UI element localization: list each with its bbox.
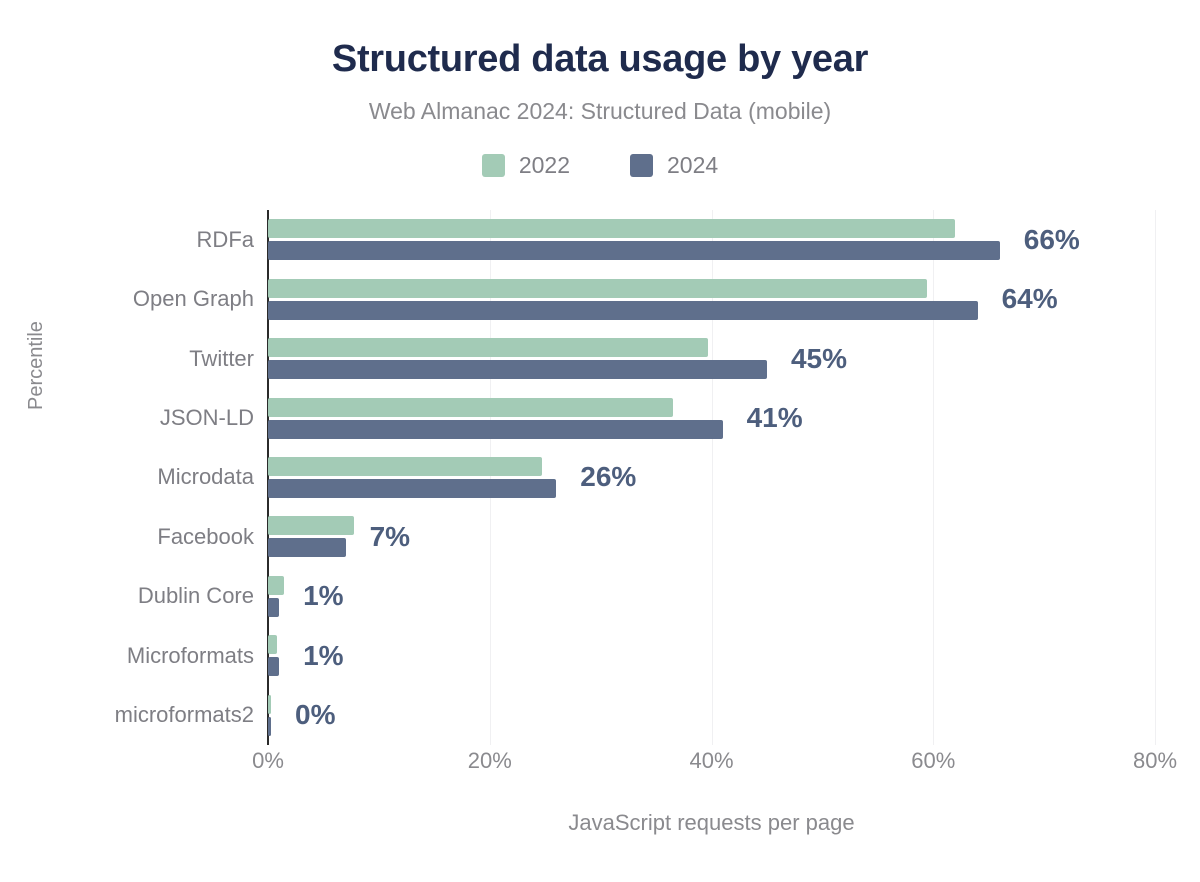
legend-label-2024: 2024 — [667, 152, 718, 179]
bar-2024[interactable] — [268, 360, 767, 379]
bar-2022[interactable] — [268, 516, 354, 535]
legend-swatch-2024 — [630, 154, 653, 177]
bar-2022[interactable] — [268, 576, 284, 595]
bar-2022[interactable] — [268, 279, 927, 298]
bar-2022[interactable] — [268, 695, 271, 714]
y-axis-tick-label: Dublin Core — [138, 583, 254, 609]
chart-title: Structured data usage by year — [0, 38, 1200, 81]
x-axis-title: JavaScript requests per page — [268, 810, 1155, 836]
bar-row: JSON-LD41% — [268, 388, 1200, 447]
bar-2024[interactable] — [268, 657, 279, 676]
chart-subtitle: Web Almanac 2024: Structured Data (mobil… — [0, 98, 1200, 125]
bar-row: Dublin Core1% — [268, 567, 1200, 626]
bar-value-label: 64% — [1002, 283, 1058, 315]
chart-legend: 2022 2024 — [0, 152, 1200, 179]
bar-2024[interactable] — [268, 241, 1000, 260]
bar-row: Facebook7% — [268, 507, 1200, 566]
y-axis-title: Percentile — [25, 321, 48, 410]
x-axis-tick-label: 40% — [689, 748, 733, 774]
bar-2022[interactable] — [268, 398, 673, 417]
x-axis-tick-label: 0% — [252, 748, 284, 774]
bar-value-label: 66% — [1024, 224, 1080, 256]
chart-container: Structured data usage by year Web Almana… — [0, 0, 1200, 882]
bar-2024[interactable] — [268, 301, 978, 320]
x-axis-tick-label: 80% — [1133, 748, 1177, 774]
bar-value-label: 7% — [370, 521, 410, 553]
bar-value-label: 45% — [791, 343, 847, 375]
y-axis-tick-label: Open Graph — [133, 286, 254, 312]
bar-rows: RDFa66%Open Graph64%Twitter45%JSON-LD41%… — [268, 210, 1155, 745]
bar-2024[interactable] — [268, 479, 556, 498]
x-axis-tick-label: 20% — [468, 748, 512, 774]
y-axis-tick-label: Facebook — [157, 524, 254, 550]
x-axis-ticks: 0%20%40%60%80% — [268, 748, 1155, 778]
legend-item-2024[interactable]: 2024 — [630, 152, 718, 179]
bar-2022[interactable] — [268, 219, 955, 238]
bar-value-label: 1% — [303, 640, 343, 672]
y-axis-tick-label: RDFa — [197, 227, 254, 253]
bar-value-label: 41% — [747, 402, 803, 434]
bar-2022[interactable] — [268, 457, 542, 476]
bar-2024[interactable] — [268, 420, 723, 439]
y-axis-tick-label: Microdata — [157, 464, 254, 490]
bar-row: Microdata26% — [268, 448, 1200, 507]
bar-2024[interactable] — [268, 717, 271, 736]
legend-swatch-2022 — [482, 154, 505, 177]
legend-label-2022: 2022 — [519, 152, 570, 179]
bar-row: Twitter45% — [268, 329, 1200, 388]
bar-value-label: 0% — [295, 699, 335, 731]
bar-2024[interactable] — [268, 598, 279, 617]
y-axis-tick-label: JSON-LD — [160, 405, 254, 431]
bar-row: RDFa66% — [268, 210, 1200, 269]
bar-row: Microformats1% — [268, 626, 1200, 685]
bar-2022[interactable] — [268, 635, 277, 654]
y-axis-tick-label: microformats2 — [115, 702, 254, 728]
bar-value-label: 26% — [580, 461, 636, 493]
x-axis-tick-label: 60% — [911, 748, 955, 774]
y-axis-tick-label: Twitter — [189, 346, 254, 372]
bar-row: Open Graph64% — [268, 269, 1200, 328]
y-axis-tick-label: Microformats — [127, 643, 254, 669]
legend-item-2022[interactable]: 2022 — [482, 152, 570, 179]
bar-value-label: 1% — [303, 580, 343, 612]
bar-2024[interactable] — [268, 538, 346, 557]
plot-area: RDFa66%Open Graph64%Twitter45%JSON-LD41%… — [268, 210, 1155, 745]
bar-2022[interactable] — [268, 338, 708, 357]
bar-row: microformats20% — [268, 686, 1200, 745]
